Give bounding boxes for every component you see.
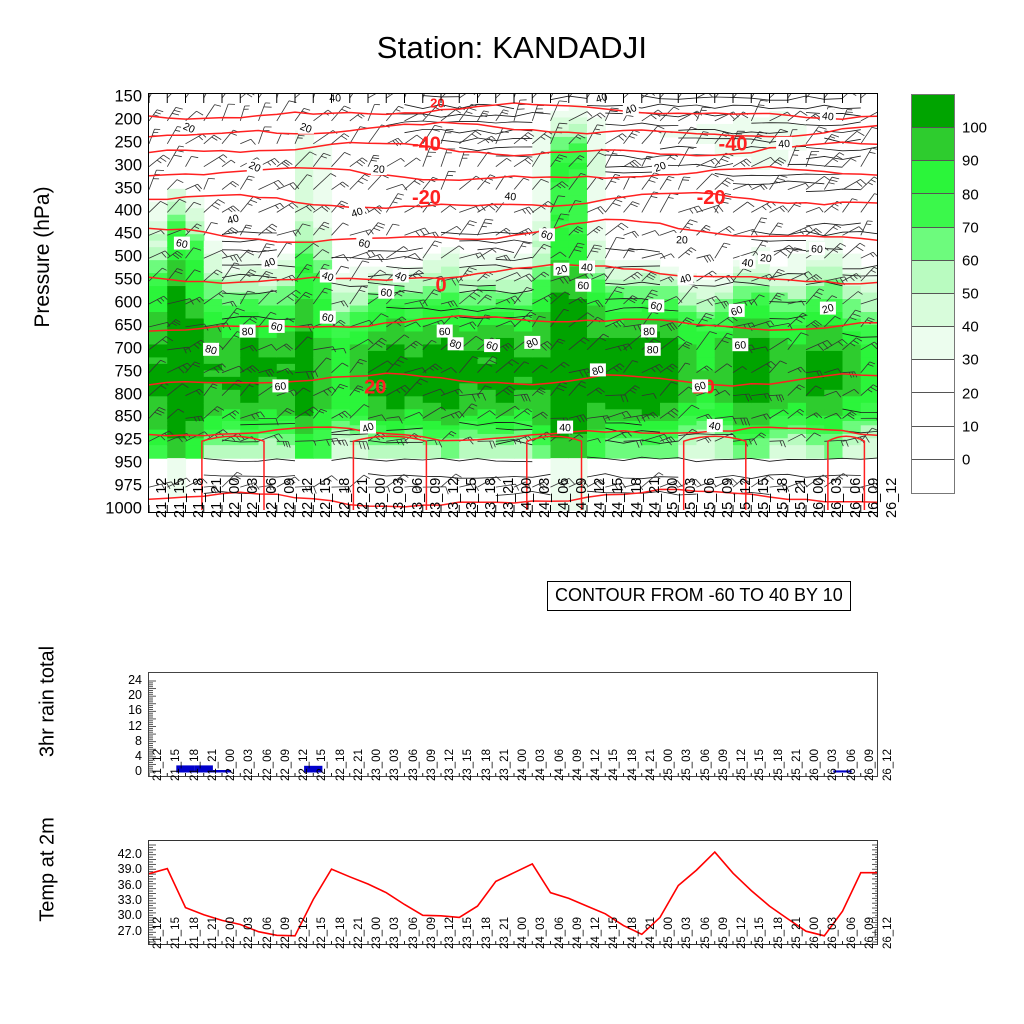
pressure-tick-label: 450 bbox=[114, 225, 142, 244]
svg-text:40: 40 bbox=[594, 94, 609, 106]
x-tick-label: 22_21 bbox=[355, 478, 371, 518]
x-tick-label: 23_06 bbox=[408, 749, 420, 781]
x-tick-label: 25_06 bbox=[702, 478, 718, 518]
colorbar-segment bbox=[912, 360, 954, 393]
x-tick-label: 23_21 bbox=[499, 917, 511, 949]
rain-tick-label: 24 bbox=[128, 673, 142, 687]
x-tick-label: 26_12 bbox=[882, 917, 894, 949]
pressure-tick-label: 700 bbox=[114, 339, 142, 358]
x-tick-label: 25_12 bbox=[736, 917, 748, 949]
x-tick-label: 24_15 bbox=[610, 478, 626, 518]
x-tick-label: 23_15 bbox=[462, 917, 474, 949]
colorbar-segment bbox=[912, 393, 954, 426]
pressure-tick-label: 750 bbox=[114, 362, 142, 381]
svg-text:60: 60 bbox=[811, 243, 824, 256]
colorbar-segment bbox=[912, 128, 954, 161]
pressure-tick-label: 650 bbox=[114, 316, 142, 335]
x-tick-label: 21_21 bbox=[207, 917, 219, 949]
x-tick-label: 26_09 bbox=[866, 478, 882, 518]
temp-plot-panel bbox=[148, 840, 878, 945]
x-tick-label: 26_00 bbox=[809, 917, 821, 949]
x-tick-label: 23_12 bbox=[444, 749, 456, 781]
main-x-axis-labels: 21_1221_1521_1821_2122_0022_0322_0622_09… bbox=[148, 518, 878, 582]
svg-text:60: 60 bbox=[577, 280, 590, 293]
colorbar-segment bbox=[912, 194, 954, 227]
temp-tick-label: 42.0 bbox=[118, 847, 142, 861]
colorbar-segment bbox=[912, 460, 954, 493]
x-tick-label: 23_18 bbox=[481, 917, 493, 949]
x-tick-label: 22_21 bbox=[353, 749, 365, 781]
svg-text:60: 60 bbox=[274, 380, 287, 393]
svg-text:-40: -40 bbox=[719, 134, 748, 156]
x-tick-label: 21_12 bbox=[154, 478, 170, 518]
rain-plot-panel bbox=[148, 672, 878, 777]
colorbar-segment bbox=[912, 95, 954, 128]
svg-text:80: 80 bbox=[643, 326, 656, 339]
x-tick-label: 24_03 bbox=[535, 749, 547, 781]
svg-text:20: 20 bbox=[364, 376, 386, 398]
x-tick-label: 24_12 bbox=[590, 917, 602, 949]
x-tick-label: 22_12 bbox=[298, 749, 310, 781]
temp-axis-title: Temp at 2m bbox=[37, 760, 60, 980]
x-tick-label: 21_12 bbox=[152, 917, 164, 949]
svg-text:40: 40 bbox=[821, 110, 834, 123]
x-tick-label: 21_15 bbox=[170, 749, 182, 781]
pressure-tick-label: 600 bbox=[114, 294, 142, 313]
pressure-tick-label: 800 bbox=[114, 385, 142, 404]
colorbar-tick-label: 100 bbox=[962, 120, 987, 137]
x-tick-label: 22_06 bbox=[264, 478, 280, 518]
colorbar-tick-label: 10 bbox=[962, 418, 979, 435]
x-tick-label: 25_18 bbox=[773, 917, 785, 949]
x-tick-label: 22_12 bbox=[298, 917, 310, 949]
temp-tick-label: 39.0 bbox=[118, 862, 142, 876]
rain-tick-label: 8 bbox=[135, 734, 142, 748]
x-tick-label: 24_06 bbox=[554, 749, 566, 781]
colorbar-segment bbox=[912, 261, 954, 294]
page-title: Station: KANDADJI bbox=[0, 30, 1024, 66]
svg-text:20: 20 bbox=[373, 163, 386, 176]
x-tick-label: 25_12 bbox=[738, 478, 754, 518]
colorbar-tick-label: 90 bbox=[962, 153, 979, 170]
svg-text:40: 40 bbox=[504, 190, 517, 203]
x-tick-label: 22_03 bbox=[243, 917, 255, 949]
x-tick-label: 22_06 bbox=[262, 917, 274, 949]
x-tick-label: 26_00 bbox=[809, 749, 821, 781]
x-tick-label: 23_00 bbox=[373, 478, 389, 518]
x-tick-label: 25_18 bbox=[773, 749, 785, 781]
svg-text:40: 40 bbox=[778, 138, 791, 151]
x-tick-label: 24_09 bbox=[572, 749, 584, 781]
rain-tick-label: 16 bbox=[128, 703, 142, 717]
temp-tick-label: 36.0 bbox=[118, 878, 142, 892]
x-tick-label: 22_18 bbox=[337, 478, 353, 518]
x-tick-label: 25_00 bbox=[663, 749, 675, 781]
x-tick-label: 24_06 bbox=[554, 917, 566, 949]
rain-tick-label: 0 bbox=[135, 764, 142, 778]
x-tick-label: 26_06 bbox=[846, 749, 858, 781]
x-tick-label: 25_06 bbox=[700, 917, 712, 949]
x-tick-label: 21_18 bbox=[191, 478, 207, 518]
x-tick-label: 22_00 bbox=[227, 478, 243, 518]
x-tick-label: 23_03 bbox=[391, 478, 407, 518]
colorbar-tick-label: 20 bbox=[962, 385, 979, 402]
x-tick-label: 23_09 bbox=[426, 749, 438, 781]
x-tick-label: 23_12 bbox=[444, 917, 456, 949]
x-tick-label: 26_12 bbox=[882, 749, 894, 781]
temp-tick-label: 33.0 bbox=[118, 893, 142, 907]
svg-text:-20: -20 bbox=[697, 187, 726, 209]
rain-plot-svg bbox=[149, 673, 878, 777]
x-tick-label: 21_21 bbox=[207, 749, 219, 781]
rain-y-axis-labels: 04812162024 bbox=[96, 672, 142, 777]
pressure-tick-label: 925 bbox=[114, 431, 142, 450]
colorbar-tick-label: 50 bbox=[962, 286, 979, 303]
svg-text:40: 40 bbox=[741, 257, 754, 271]
colorbar-labels: 1009080706050403020100 bbox=[962, 94, 1022, 494]
x-tick-label: 23_06 bbox=[408, 917, 420, 949]
x-tick-label: 21_18 bbox=[189, 917, 201, 949]
svg-text:0: 0 bbox=[435, 275, 446, 297]
x-tick-label: 21_15 bbox=[170, 917, 182, 949]
x-tick-label: 25_15 bbox=[756, 478, 772, 518]
x-tick-label: 22_15 bbox=[318, 478, 334, 518]
colorbar-tick-label: 80 bbox=[962, 186, 979, 203]
colorbar-segment bbox=[912, 161, 954, 194]
pressure-tick-label: 950 bbox=[114, 454, 142, 473]
x-tick-label: 23_00 bbox=[371, 917, 383, 949]
svg-text:60: 60 bbox=[734, 339, 746, 352]
colorbar-tick-label: 40 bbox=[962, 319, 979, 336]
x-tick-label: 26_09 bbox=[864, 749, 876, 781]
svg-text:-40: -40 bbox=[412, 134, 441, 156]
x-tick-label: 26_00 bbox=[811, 478, 827, 518]
x-tick-label: 24_06 bbox=[556, 478, 572, 518]
x-tick-label: 22_18 bbox=[335, 917, 347, 949]
rain-x-axis-labels: 21_1221_1521_1821_2122_0022_0322_0622_09… bbox=[148, 781, 878, 833]
x-tick-label: 24_09 bbox=[574, 478, 590, 518]
x-tick-label: 23_18 bbox=[481, 749, 493, 781]
x-tick-label: 24_03 bbox=[537, 478, 553, 518]
x-tick-label: 23_09 bbox=[426, 917, 438, 949]
x-tick-label: 22_03 bbox=[243, 749, 255, 781]
rain-tick-label: 4 bbox=[135, 749, 142, 763]
svg-text:20: 20 bbox=[759, 252, 772, 265]
x-tick-label: 24_18 bbox=[629, 478, 645, 518]
x-tick-label: 22_12 bbox=[300, 478, 316, 518]
x-tick-label: 25_09 bbox=[720, 478, 736, 518]
x-tick-label: 25_09 bbox=[718, 917, 730, 949]
pressure-tick-label: 400 bbox=[114, 202, 142, 221]
x-tick-label: 24_00 bbox=[519, 478, 535, 518]
pressure-tick-label: 300 bbox=[114, 156, 142, 175]
colorbar bbox=[911, 94, 955, 494]
x-tick-label: 22_15 bbox=[316, 917, 328, 949]
x-tick-label: 25_21 bbox=[793, 478, 809, 518]
rain-tick-label: 20 bbox=[128, 688, 142, 702]
x-tick-label: 24_21 bbox=[645, 917, 657, 949]
colorbar-segment bbox=[912, 327, 954, 360]
pressure-tick-label: 975 bbox=[114, 477, 142, 496]
x-tick-label: 23_03 bbox=[389, 917, 401, 949]
svg-text:60: 60 bbox=[439, 326, 451, 338]
x-tick-label: 21_21 bbox=[209, 478, 225, 518]
x-tick-label: 23_06 bbox=[410, 478, 426, 518]
x-tick-label: 22_06 bbox=[262, 749, 274, 781]
contour-plot-svg: -40-40-20-200202020202020202020202020404… bbox=[149, 94, 878, 513]
x-tick-label: 26_03 bbox=[827, 917, 839, 949]
x-tick-label: 26_03 bbox=[829, 478, 845, 518]
pressure-tick-label: 1000 bbox=[105, 500, 142, 519]
x-tick-label: 24_21 bbox=[645, 749, 657, 781]
colorbar-tick-label: 30 bbox=[962, 352, 979, 369]
x-tick-label: 21_12 bbox=[152, 749, 164, 781]
x-tick-label: 24_21 bbox=[647, 478, 663, 518]
x-tick-label: 26_09 bbox=[864, 917, 876, 949]
x-tick-label: 22_03 bbox=[245, 478, 261, 518]
x-tick-label: 26_06 bbox=[848, 478, 864, 518]
x-tick-label: 25_00 bbox=[665, 478, 681, 518]
x-tick-label: 22_00 bbox=[225, 749, 237, 781]
pressure-tick-label: 850 bbox=[114, 408, 142, 427]
svg-text:80: 80 bbox=[647, 344, 659, 356]
svg-text:40: 40 bbox=[559, 422, 571, 434]
svg-text:80: 80 bbox=[241, 326, 254, 339]
x-tick-label: 25_09 bbox=[718, 749, 730, 781]
svg-text:20: 20 bbox=[676, 234, 688, 246]
x-tick-label: 23_03 bbox=[389, 749, 401, 781]
colorbar-tick-label: 70 bbox=[962, 219, 979, 236]
x-tick-label: 23_21 bbox=[499, 749, 511, 781]
x-tick-label: 23_12 bbox=[446, 478, 462, 518]
x-tick-label: 24_15 bbox=[608, 917, 620, 949]
x-tick-label: 25_15 bbox=[754, 749, 766, 781]
x-tick-label: 22_09 bbox=[280, 749, 292, 781]
x-tick-label: 26_06 bbox=[846, 917, 858, 949]
x-tick-label: 22_21 bbox=[353, 917, 365, 949]
contour-note: CONTOUR FROM -60 TO 40 BY 10 bbox=[547, 581, 851, 611]
x-tick-label: 23_15 bbox=[462, 749, 474, 781]
pressure-axis-labels: 1502002503003504004505005506006507007508… bbox=[58, 93, 142, 513]
x-tick-label: 24_00 bbox=[517, 917, 529, 949]
x-tick-label: 21_18 bbox=[189, 749, 201, 781]
temp-x-axis-labels: 21_1221_1521_1821_2122_0022_0322_0622_09… bbox=[148, 949, 878, 1001]
x-tick-label: 25_12 bbox=[736, 749, 748, 781]
colorbar-segment bbox=[912, 294, 954, 327]
x-tick-label: 23_00 bbox=[371, 749, 383, 781]
pressure-tick-label: 150 bbox=[114, 88, 142, 107]
colorbar-segment bbox=[912, 427, 954, 460]
temp-tick-label: 30.0 bbox=[118, 908, 142, 922]
svg-text:40: 40 bbox=[708, 420, 722, 434]
x-tick-label: 23_18 bbox=[483, 478, 499, 518]
x-tick-label: 24_12 bbox=[592, 478, 608, 518]
rain-tick-label: 12 bbox=[128, 719, 142, 733]
svg-text:-20: -20 bbox=[412, 187, 441, 209]
pressure-tick-label: 550 bbox=[114, 271, 142, 290]
x-tick-label: 22_15 bbox=[316, 749, 328, 781]
x-tick-label: 25_03 bbox=[683, 478, 699, 518]
temp-plot-svg bbox=[149, 841, 878, 945]
x-tick-label: 21_15 bbox=[172, 478, 188, 518]
svg-text:60: 60 bbox=[380, 286, 393, 299]
pressure-tick-label: 200 bbox=[114, 110, 142, 129]
colorbar-tick-label: 0 bbox=[962, 451, 970, 468]
x-tick-label: 25_06 bbox=[700, 749, 712, 781]
colorbar-segment bbox=[912, 228, 954, 261]
x-tick-label: 24_12 bbox=[590, 749, 602, 781]
x-tick-label: 25_18 bbox=[775, 478, 791, 518]
x-tick-label: 26_03 bbox=[827, 749, 839, 781]
x-tick-label: 24_09 bbox=[572, 917, 584, 949]
pressure-axis-title: Pressure (hPa) bbox=[31, 127, 55, 387]
pressure-tick-label: 250 bbox=[114, 133, 142, 152]
x-tick-label: 23_15 bbox=[464, 478, 480, 518]
x-tick-label: 25_03 bbox=[681, 917, 693, 949]
x-tick-label: 24_15 bbox=[608, 749, 620, 781]
temp-y-axis-labels: 27.030.033.036.039.042.0 bbox=[96, 840, 142, 945]
svg-text:60: 60 bbox=[321, 311, 335, 325]
x-tick-label: 22_09 bbox=[282, 478, 298, 518]
pressure-tick-label: 350 bbox=[114, 179, 142, 198]
x-tick-label: 24_18 bbox=[627, 749, 639, 781]
x-tick-label: 24_03 bbox=[535, 917, 547, 949]
x-tick-label: 23_21 bbox=[501, 478, 517, 518]
x-tick-label: 25_00 bbox=[663, 917, 675, 949]
contour-plot-panel: -40-40-20-200202020202020202020202020404… bbox=[148, 93, 878, 513]
x-tick-label: 25_21 bbox=[791, 749, 803, 781]
x-tick-label: 23_09 bbox=[428, 478, 444, 518]
x-tick-label: 22_00 bbox=[225, 917, 237, 949]
svg-text:40: 40 bbox=[581, 262, 594, 275]
x-tick-label: 24_00 bbox=[517, 749, 529, 781]
x-tick-label: 25_21 bbox=[791, 917, 803, 949]
colorbar-tick-label: 60 bbox=[962, 252, 979, 269]
x-tick-label: 22_18 bbox=[335, 749, 347, 781]
x-tick-label: 26_12 bbox=[884, 478, 900, 518]
svg-text:20: 20 bbox=[430, 96, 444, 111]
x-tick-label: 25_03 bbox=[681, 749, 693, 781]
temp-tick-label: 27.0 bbox=[118, 924, 142, 938]
x-tick-label: 22_09 bbox=[280, 917, 292, 949]
pressure-tick-label: 500 bbox=[114, 248, 142, 267]
x-tick-label: 24_18 bbox=[627, 917, 639, 949]
x-tick-label: 25_15 bbox=[754, 917, 766, 949]
